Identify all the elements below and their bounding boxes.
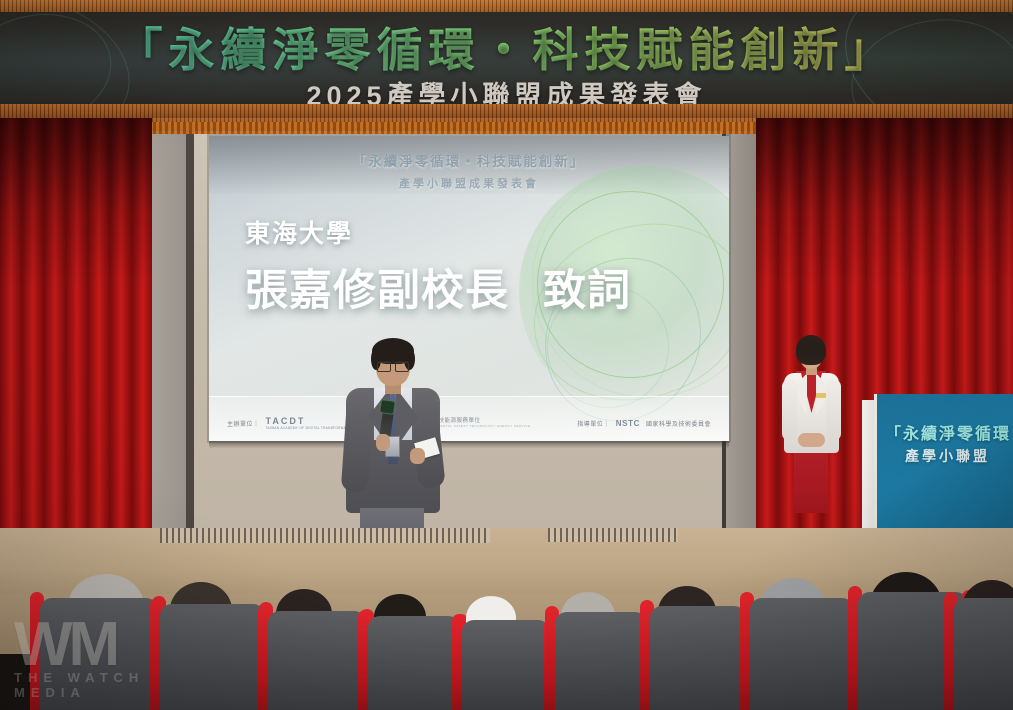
emcee-arm-left: [782, 379, 797, 441]
slide-footer: 主辦單位｜ TACDT TAIWAN ACADEMY OF DIGITAL TR…: [209, 396, 729, 441]
nstc-logo-sub: 國家科學及技術委員會: [646, 419, 711, 428]
emcee-arm-right: [826, 379, 841, 441]
audience-seat: [368, 616, 460, 710]
side-screen-line1: 「永續淨零循環: [885, 420, 1011, 444]
slide-organization: 東海大學: [245, 214, 695, 250]
slide-body: 東海大學 張嘉修副校長致詞: [245, 214, 695, 318]
slide-header-subtitle: 產學小聯盟成果發表會: [209, 175, 729, 191]
emcee-hair-front: [797, 341, 825, 353]
banner-title: 「永續淨零循環・科技賦能創新」: [0, 14, 1013, 80]
audience-seat: [555, 612, 647, 710]
slide-header-title: 「永續淨零循環・科技賦能創新」: [209, 150, 729, 170]
audience-area: [0, 560, 1013, 710]
speaker-hand-right: [410, 448, 425, 464]
audience-seat: [160, 604, 265, 710]
slide-header: 「永續淨零循環・科技賦能創新」 產學小聯盟成果發表會: [209, 150, 729, 191]
wall-grey-strip-left: [150, 112, 186, 542]
slide-host-label: 主辦單位｜: [227, 419, 260, 428]
projection-screen-shadow: [209, 441, 729, 448]
slide-speaker-line: 張嘉修副校長致詞: [245, 256, 695, 318]
slide-host-group: 主辦單位｜ TACDT TAIWAN ACADEMY OF DIGITAL TR…: [227, 416, 355, 430]
nstc-logo: NSTC: [616, 419, 640, 428]
audience-seat: [650, 606, 746, 710]
microphone-head-icon: [379, 399, 396, 415]
stage-front-vent-grille: [548, 528, 678, 542]
emcee-figure: [774, 335, 848, 550]
audience-seat: [268, 611, 366, 710]
audience-seat: [750, 598, 854, 710]
audience-seat: [462, 620, 550, 710]
audience-seat: [954, 598, 1013, 710]
event-banner: 「永續淨零循環・科技賦能創新」 2025產學小聯盟成果發表會: [0, 0, 1013, 118]
wall-dark-strip-left: [186, 112, 194, 542]
side-screen-line2: 產學小聯盟: [905, 446, 990, 466]
speaker-hand-left: [376, 434, 390, 451]
stage-front-vent-grille: [160, 528, 490, 543]
speaker-glasses: [377, 361, 409, 370]
slide-speaker-name: 張嘉修副校長: [245, 267, 509, 315]
slide-guide-label: 指導單位｜: [577, 419, 610, 428]
projection-screen: 「永續淨零循環・科技賦能創新」 產學小聯盟成果發表會 東海大學 張嘉修副校長致詞…: [209, 136, 729, 441]
wall-grey-strip-right: [726, 112, 756, 542]
event-photograph: 「永續淨零循環・科技賦能創新」 產學小聯盟成果發表會 東海大學 張嘉修副校長致詞…: [0, 0, 1013, 710]
slide-guide-group: 指導單位｜ NSTC 國家科學及技術委員會: [577, 419, 711, 428]
banner-wood-rail-top: [0, 0, 1013, 12]
stage-curtain-left: [0, 118, 152, 543]
emcee-hands: [798, 433, 825, 447]
banner-wood-rail-bottom: [0, 104, 1013, 118]
audience-seat: [40, 598, 158, 710]
slide-speaker-action: 致詞: [543, 267, 631, 315]
